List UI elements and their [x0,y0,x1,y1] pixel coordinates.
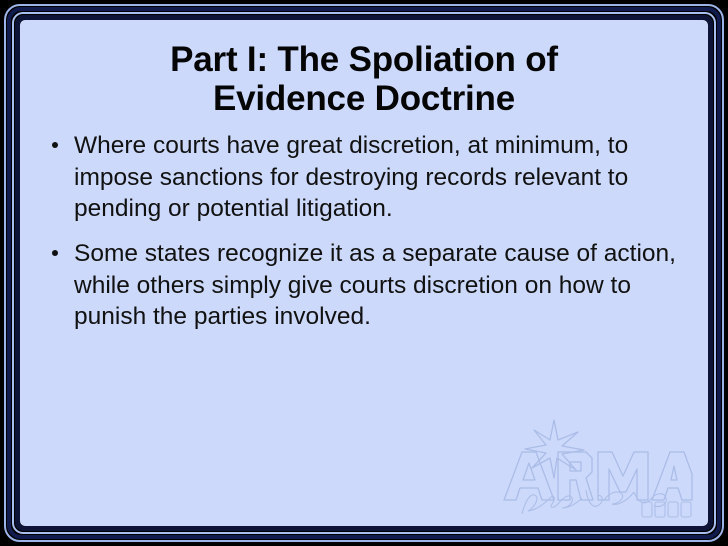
bullet-list: Where courts have great discretion, at m… [20,130,708,332]
slide-content-panel: Part I: The Spoliation of Evidence Doctr… [20,20,708,526]
arma-las-vegas-watermark [492,416,702,526]
year-2008 [642,502,691,517]
slide-canvas: Part I: The Spoliation of Evidence Doctr… [0,0,728,546]
slide-title-line-1: Part I: The Spoliation of [170,40,558,79]
las-vegas-script [522,490,666,514]
slide-title: Part I: The Spoliation of Evidence Doctr… [20,20,708,118]
bullet-item: Where courts have great discretion, at m… [32,130,690,224]
slide-title-line-2: Evidence Doctrine [213,79,515,118]
bullet-item: Some states recognize it as a separate c… [32,238,690,332]
arma-wordmark [504,452,692,500]
bullet-text: Where courts have great discretion, at m… [74,132,628,222]
starburst-icon [525,420,584,478]
bullet-text: Some states recognize it as a separate c… [74,240,676,330]
